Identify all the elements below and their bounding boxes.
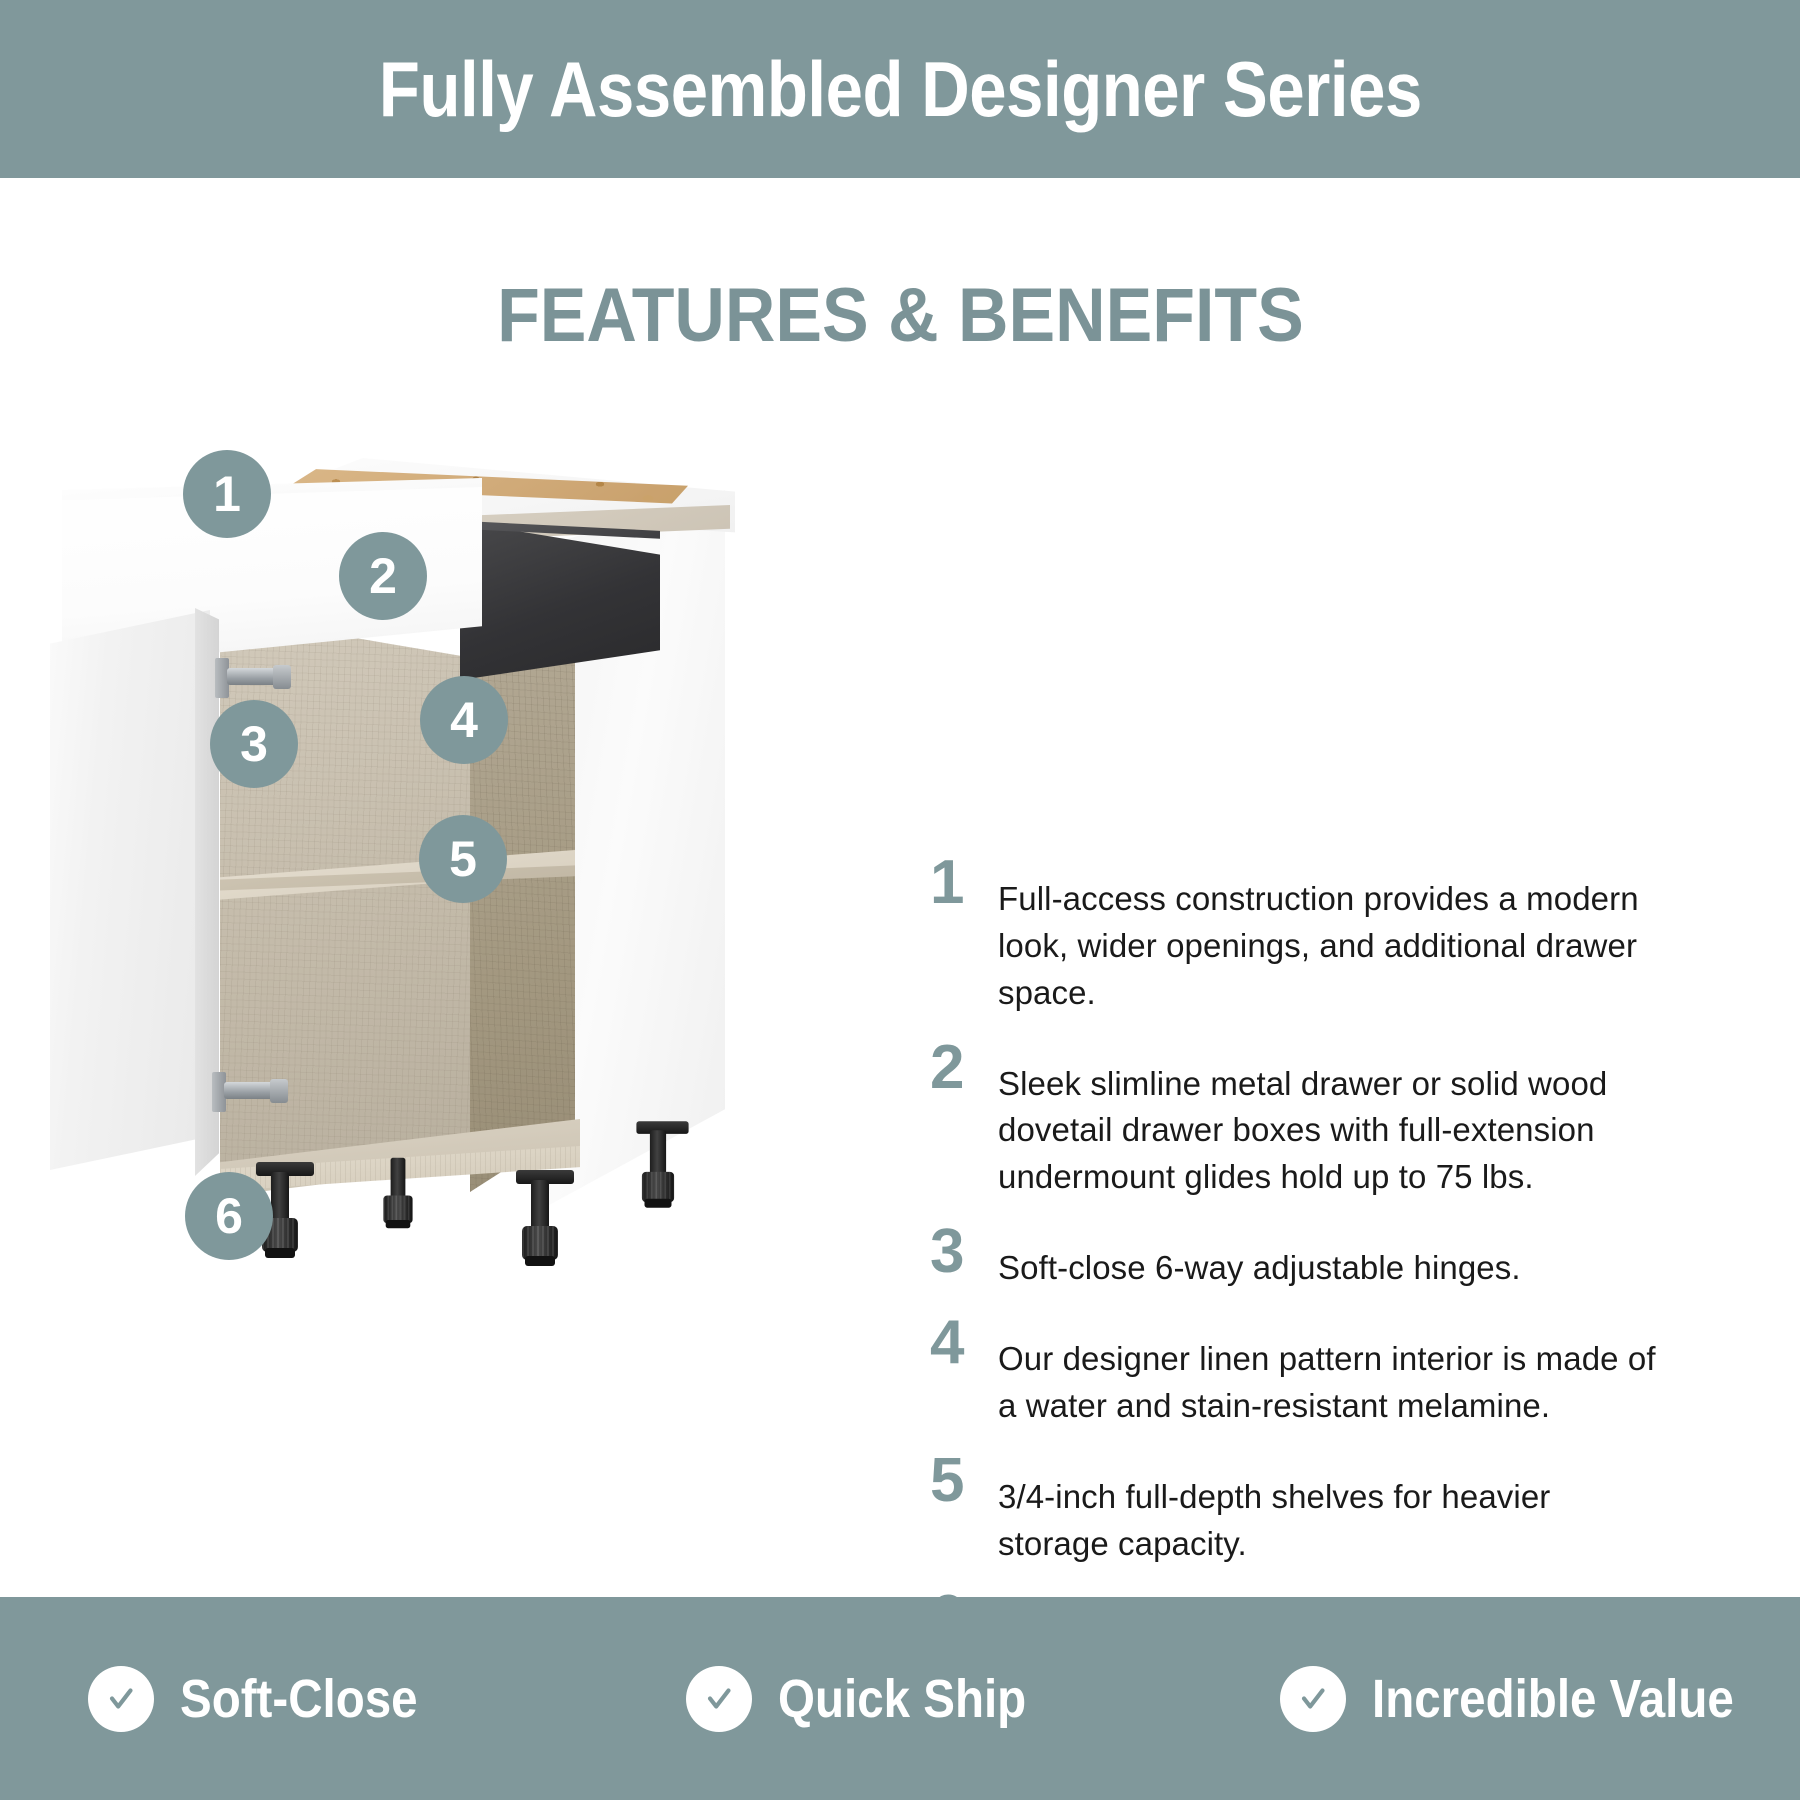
leg-foot xyxy=(386,1220,411,1228)
callout-badge-4[interactable]: 4 xyxy=(420,676,508,764)
hinge-arm xyxy=(224,1082,276,1099)
check-circle-icon xyxy=(686,1666,752,1732)
callout-badge-2[interactable]: 2 xyxy=(339,532,427,620)
adjustable-leg xyxy=(383,1158,413,1229)
footer-badge-label: Quick Ship xyxy=(778,1672,1026,1726)
footer-badge-label: Soft-Close xyxy=(180,1672,418,1726)
leg-shaft xyxy=(650,1130,666,1177)
check-circle-icon xyxy=(88,1666,154,1732)
leg-foot xyxy=(525,1256,555,1266)
hinge-cup xyxy=(270,1079,288,1103)
leg-shaft xyxy=(271,1172,289,1224)
soft-close-hinge-upper xyxy=(215,656,293,700)
hinge-arm xyxy=(227,668,279,685)
feature-text: Full-access construction provides a mode… xyxy=(998,850,1670,1017)
feature-item-4: 4 Our designer linen pattern interior is… xyxy=(930,1310,1670,1430)
leg-shaft xyxy=(391,1158,406,1201)
callout-badge-5[interactable]: 5 xyxy=(419,815,507,903)
footer-badge-soft-close: Soft-Close xyxy=(0,1666,608,1732)
check-circle-icon xyxy=(1280,1666,1346,1732)
leg-collar xyxy=(522,1226,558,1260)
footer-badge-label: Incredible Value xyxy=(1372,1672,1734,1726)
feature-item-5: 5 3/4-inch full-depth shelves for heavie… xyxy=(930,1448,1670,1568)
callout-badge-1[interactable]: 1 xyxy=(183,450,271,538)
feature-number: 3 xyxy=(930,1223,998,1280)
adjustable-leg xyxy=(642,1130,674,1207)
callout-badge-6[interactable]: 6 xyxy=(185,1172,273,1260)
leg-shaft xyxy=(531,1180,549,1232)
feature-number: 5 xyxy=(930,1452,998,1509)
soft-close-hinge-lower xyxy=(212,1070,290,1114)
feature-item-1: 1 Full-access construction provides a mo… xyxy=(930,850,1670,1017)
feature-text: Soft-close 6-way adjustable hinges. xyxy=(998,1219,1670,1292)
section-heading-text: FEATURES & BENEFITS xyxy=(497,278,1304,354)
feature-number: 2 xyxy=(930,1039,998,1096)
feature-item-3: 3 Soft-close 6-way adjustable hinges. xyxy=(930,1219,1670,1292)
feature-number: 4 xyxy=(930,1314,998,1371)
leg-foot xyxy=(265,1248,295,1258)
feature-item-2: 2 Sleek slimline metal drawer or solid w… xyxy=(930,1035,1670,1202)
hinge-cup xyxy=(273,665,291,689)
footer-bar: Soft-Close Quick Ship Incredible Value xyxy=(0,1597,1800,1800)
main-content: 1 Full-access construction provides a mo… xyxy=(0,410,1800,1560)
feature-text: 3/4-inch full-depth shelves for heavier … xyxy=(998,1448,1670,1568)
header-bar: Fully Assembled Designer Series xyxy=(0,0,1800,178)
callout-badge-3[interactable]: 3 xyxy=(210,700,298,788)
feature-list: 1 Full-access construction provides a mo… xyxy=(930,850,1670,1723)
footer-badge-quick-ship: Quick Ship xyxy=(608,1666,1206,1732)
cabinet-door xyxy=(50,610,210,1170)
product-image xyxy=(40,410,840,1410)
section-heading: FEATURES & BENEFITS xyxy=(0,278,1800,354)
footer-badge-incredible-value: Incredible Value xyxy=(1206,1666,1800,1732)
leg-foot xyxy=(645,1199,672,1208)
feature-number: 1 xyxy=(930,854,998,911)
adjustable-leg xyxy=(522,1180,558,1266)
feature-text: Our designer linen pattern interior is m… xyxy=(998,1310,1670,1430)
feature-text: Sleek slimline metal drawer or solid woo… xyxy=(998,1035,1670,1202)
page-title: Fully Assembled Designer Series xyxy=(379,50,1422,128)
